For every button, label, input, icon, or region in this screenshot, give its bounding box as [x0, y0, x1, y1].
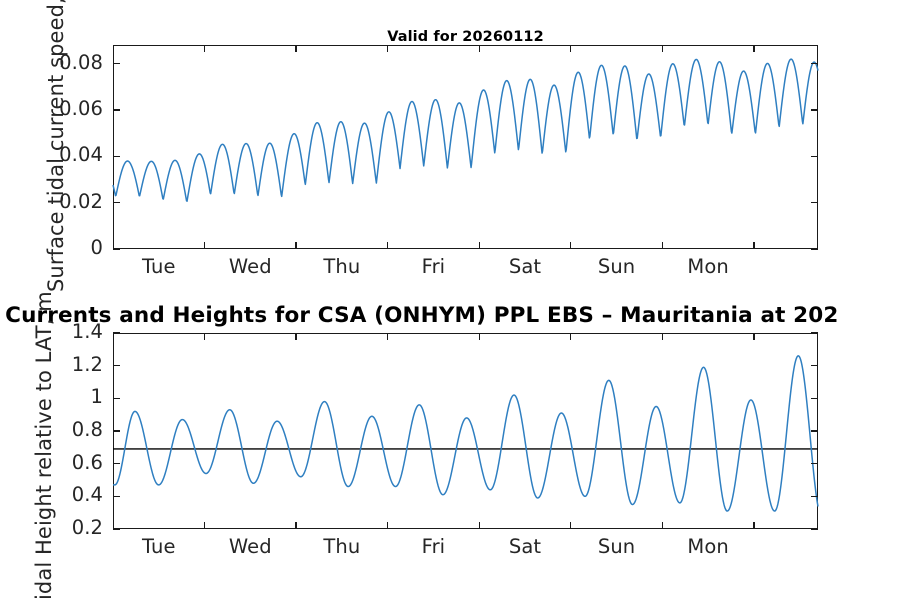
x-tick — [479, 242, 480, 249]
y-tick — [811, 63, 818, 64]
x-tick — [387, 522, 388, 529]
x-tick — [295, 45, 296, 52]
y-tick — [113, 202, 120, 203]
x-tick — [570, 333, 571, 340]
y-tick — [113, 156, 120, 157]
x-tick — [204, 242, 205, 249]
tidal-figure: Valid for 20260112 Surface tidal current… — [0, 0, 900, 600]
y-tick — [113, 430, 120, 431]
x-tick — [570, 242, 571, 249]
top-chart-line — [113, 45, 818, 249]
x-tick-label: Tue — [109, 255, 209, 278]
x-tick — [295, 522, 296, 529]
x-tick — [662, 45, 663, 52]
y-tick — [113, 398, 120, 399]
y-tick — [113, 365, 120, 366]
x-tick-label: Sun — [567, 255, 667, 278]
x-tick — [662, 333, 663, 340]
y-tick-label: 0.06 — [3, 97, 103, 120]
x-tick-label: Fri — [383, 255, 483, 278]
x-tick-label: Thu — [292, 535, 392, 558]
x-tick-label: Wed — [200, 535, 300, 558]
x-tick-label: Sat — [475, 535, 575, 558]
bottom-series-polyline — [113, 356, 818, 511]
y-tick — [113, 248, 120, 249]
bottom-chart-axes — [113, 333, 818, 529]
x-tick-label: Wed — [200, 255, 300, 278]
x-tick — [204, 522, 205, 529]
y-tick — [811, 156, 818, 157]
y-tick — [811, 398, 818, 399]
x-tick — [753, 242, 754, 249]
top-series-polyline — [113, 59, 818, 201]
x-tick-label: Sat — [475, 255, 575, 278]
y-tick — [811, 202, 818, 203]
x-tick-label: Sun — [567, 535, 667, 558]
y-tick-label: 1 — [3, 385, 103, 408]
x-tick — [387, 242, 388, 249]
x-tick — [662, 242, 663, 249]
y-tick-label: 0.4 — [3, 483, 103, 506]
y-tick-label: 0.8 — [3, 418, 103, 441]
x-tick — [753, 522, 754, 529]
x-tick — [479, 333, 480, 340]
y-tick — [811, 365, 818, 366]
x-tick-label: Tue — [109, 535, 209, 558]
y-tick — [811, 496, 818, 497]
x-tick — [387, 333, 388, 340]
x-tick — [295, 242, 296, 249]
figure-main-title: l Currents and Heights for CSA (ONHYM) P… — [0, 303, 839, 328]
y-tick-label: 1.4 — [3, 320, 103, 343]
x-tick — [204, 45, 205, 52]
x-tick — [662, 522, 663, 529]
top-chart-axes — [113, 45, 818, 249]
y-tick-label: 1.2 — [3, 353, 103, 376]
x-tick — [753, 333, 754, 340]
bottom-chart-line — [113, 333, 818, 529]
y-tick — [811, 332, 818, 333]
y-tick-label: 0.04 — [3, 143, 103, 166]
x-tick — [479, 45, 480, 52]
x-tick — [479, 522, 480, 529]
y-tick — [811, 528, 818, 529]
y-tick-label: 0.6 — [3, 451, 103, 474]
x-tick — [295, 333, 296, 340]
x-tick — [753, 45, 754, 52]
y-tick-label: 0 — [3, 236, 103, 259]
x-tick-label: Thu — [292, 255, 392, 278]
y-tick — [113, 463, 120, 464]
x-tick-label: Mon — [658, 255, 758, 278]
x-tick-label: Mon — [658, 535, 758, 558]
y-tick-label: 0.08 — [3, 51, 103, 74]
top-chart-subtitle: Valid for 20260112 — [113, 29, 818, 45]
y-tick — [113, 63, 120, 64]
y-tick — [113, 496, 120, 497]
x-tick — [387, 45, 388, 52]
y-tick — [811, 109, 818, 110]
y-tick — [811, 463, 818, 464]
y-tick-label: 0.02 — [3, 190, 103, 213]
y-tick-label: 0.2 — [3, 516, 103, 539]
y-tick — [113, 528, 120, 529]
x-tick — [570, 522, 571, 529]
x-tick — [570, 45, 571, 52]
x-tick-label: Fri — [383, 535, 483, 558]
x-tick — [204, 333, 205, 340]
y-tick — [811, 248, 818, 249]
y-tick — [811, 430, 818, 431]
y-tick — [113, 109, 120, 110]
y-tick — [113, 332, 120, 333]
